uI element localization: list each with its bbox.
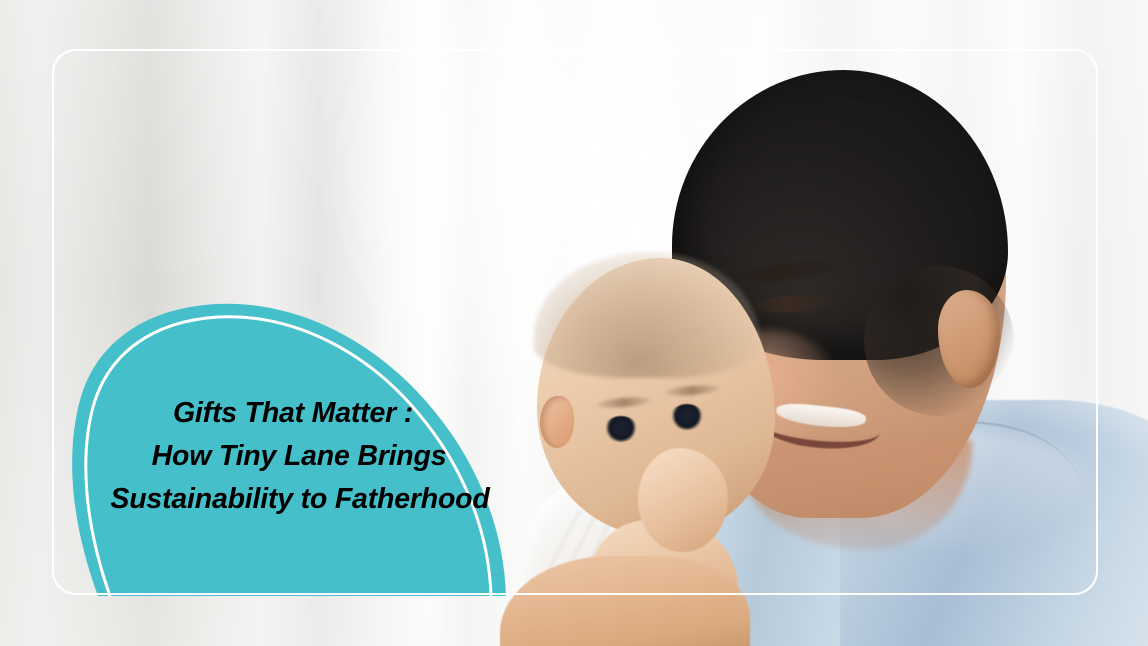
headline-line-3: Sustainability to Fatherhood <box>0 478 600 521</box>
blog-banner: Gifts That Matter : How Tiny Lane Brings… <box>0 0 1148 646</box>
banner-headline: Gifts That Matter : How Tiny Lane Brings… <box>0 392 600 521</box>
headline-line-1: Gifts That Matter : <box>0 392 600 435</box>
headline-line-2: How Tiny Lane Brings <box>0 435 600 478</box>
